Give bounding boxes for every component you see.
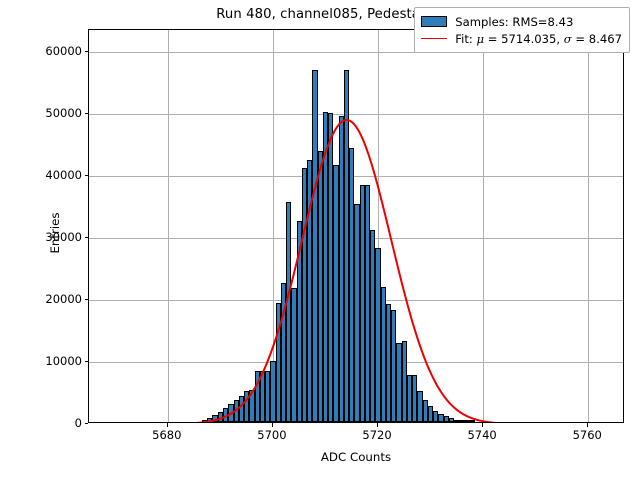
y-tick-label: 10000 [45,354,82,368]
x-tick-mark [167,423,168,427]
legend-fit-prefix: Fit: [455,32,476,46]
x-axis-label: ADC Counts [88,450,624,464]
y-tick-label: 0 [75,416,82,430]
x-tick-label: 5680 [152,428,181,442]
legend-item-samples: Samples: RMS=8.43 [421,13,622,30]
y-tick-mark [85,51,89,52]
x-tick-mark [272,423,273,427]
y-tick-label: 50000 [45,106,82,120]
legend-swatch-fit-icon [421,38,447,39]
legend-fit-sigma-value: = 8.467 [572,32,622,46]
legend-fit-mu-symbol: μ [476,32,484,46]
legend-label-samples: Samples: RMS=8.43 [455,15,573,29]
legend-item-fit: Fit: μ = 5714.035, σ = 8.467 [421,30,622,47]
x-tick-mark [587,423,588,427]
legend-swatch-samples-icon [421,16,447,27]
x-tick-label: 5760 [573,428,602,442]
histogram-bars [89,30,623,422]
x-tick-label: 5740 [467,428,496,442]
x-tick-mark [377,423,378,427]
legend-fit-mu-value: = 5714.035, [484,32,564,46]
legend-fit-sigma-symbol: σ [564,32,572,46]
x-tick-mark [482,423,483,427]
y-tick-mark [85,423,89,424]
matplotlib-figure: Run 480, channel085, Pedestal 5680570057… [0,0,640,480]
legend-label-fit: Fit: μ = 5714.035, σ = 8.467 [455,32,622,46]
x-tick-label: 5700 [257,428,286,442]
y-tick-mark [85,299,89,300]
legend: Samples: RMS=8.43 Fit: μ = 5714.035, σ =… [414,7,630,53]
y-tick-mark [85,237,89,238]
x-tick-label: 5720 [362,428,391,442]
y-axis-label: Entries [48,173,62,293]
y-tick-mark [85,361,89,362]
histogram-bar [470,420,475,422]
y-tick-mark [85,113,89,114]
y-tick-mark [85,175,89,176]
plot-area [88,29,624,423]
y-tick-label: 20000 [45,292,82,306]
y-tick-label: 60000 [45,44,82,58]
